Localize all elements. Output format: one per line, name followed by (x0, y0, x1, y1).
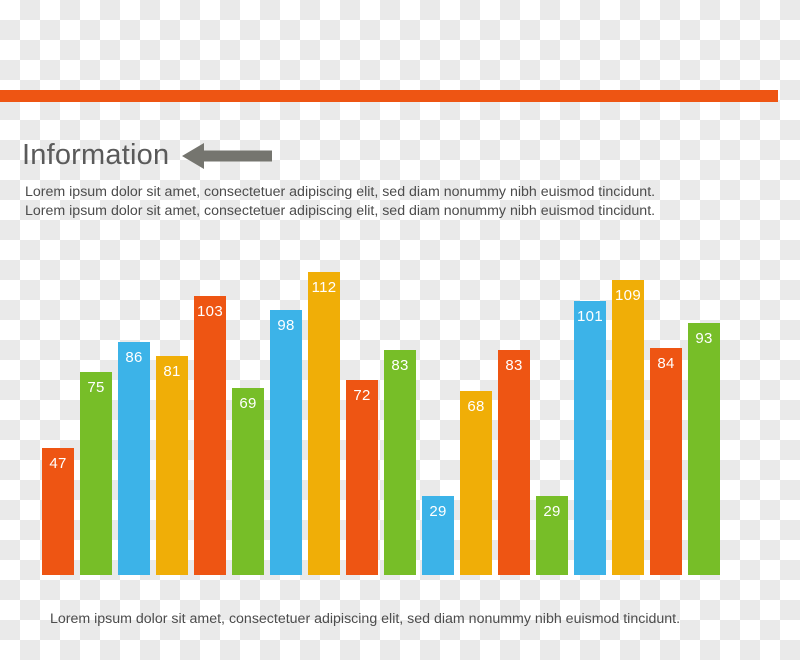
bar-chart-plot-area: 4775868110369981127283296883291011098493 (42, 250, 742, 575)
bar[interactable]: 103 (194, 296, 226, 575)
arrow-left-icon (182, 142, 272, 170)
footer-caption: Lorem ipsum dolor sit amet, consectetuer… (0, 610, 730, 629)
bar-value-label: 98 (270, 317, 302, 334)
bar[interactable]: 68 (460, 391, 492, 575)
bar[interactable]: 101 (574, 301, 606, 575)
bar[interactable]: 86 (118, 342, 150, 575)
bar-value-label: 109 (612, 287, 644, 304)
bar-value-label: 101 (574, 308, 606, 325)
bar[interactable]: 112 (308, 272, 340, 575)
bar-value-label: 86 (118, 349, 150, 366)
bar-value-label: 29 (536, 503, 568, 520)
page-title: Information (22, 136, 169, 174)
bar-value-label: 83 (384, 357, 416, 374)
bar[interactable]: 29 (422, 496, 454, 575)
intro-line-2: Lorem ipsum dolor sit amet, consectetuer… (25, 202, 765, 221)
bar-value-label: 29 (422, 503, 454, 520)
bar-value-label: 81 (156, 363, 188, 380)
bar[interactable]: 84 (650, 348, 682, 575)
bar-value-label: 93 (688, 330, 720, 347)
intro-paragraph: Lorem ipsum dolor sit amet, consectetuer… (25, 183, 765, 221)
bar[interactable]: 72 (346, 380, 378, 575)
bar[interactable]: 93 (688, 323, 720, 575)
bar-chart: 4775868110369981127283296883291011098493 (0, 250, 800, 580)
bar[interactable]: 83 (384, 350, 416, 575)
bar-value-label: 72 (346, 387, 378, 404)
bar[interactable]: 98 (270, 310, 302, 575)
bar-value-label: 47 (42, 455, 74, 472)
bar[interactable]: 75 (80, 372, 112, 575)
bar-value-label: 84 (650, 355, 682, 372)
bar-value-label: 103 (194, 303, 226, 320)
bar[interactable]: 47 (42, 448, 74, 575)
bar-value-label: 69 (232, 395, 264, 412)
bar-value-label: 68 (460, 398, 492, 415)
bar-value-label: 83 (498, 357, 530, 374)
top-divider-rule (0, 90, 778, 102)
infographic-canvas: Information Lorem ipsum dolor sit amet, … (0, 0, 800, 660)
bar[interactable]: 29 (536, 496, 568, 575)
bar[interactable]: 69 (232, 388, 264, 575)
bar[interactable]: 83 (498, 350, 530, 575)
bar-value-label: 112 (308, 279, 340, 296)
heading-row: Information (22, 136, 782, 176)
bar[interactable]: 109 (612, 280, 644, 575)
intro-line-1: Lorem ipsum dolor sit amet, consectetuer… (25, 183, 765, 202)
bar[interactable]: 81 (156, 356, 188, 575)
bar-value-label: 75 (80, 379, 112, 396)
